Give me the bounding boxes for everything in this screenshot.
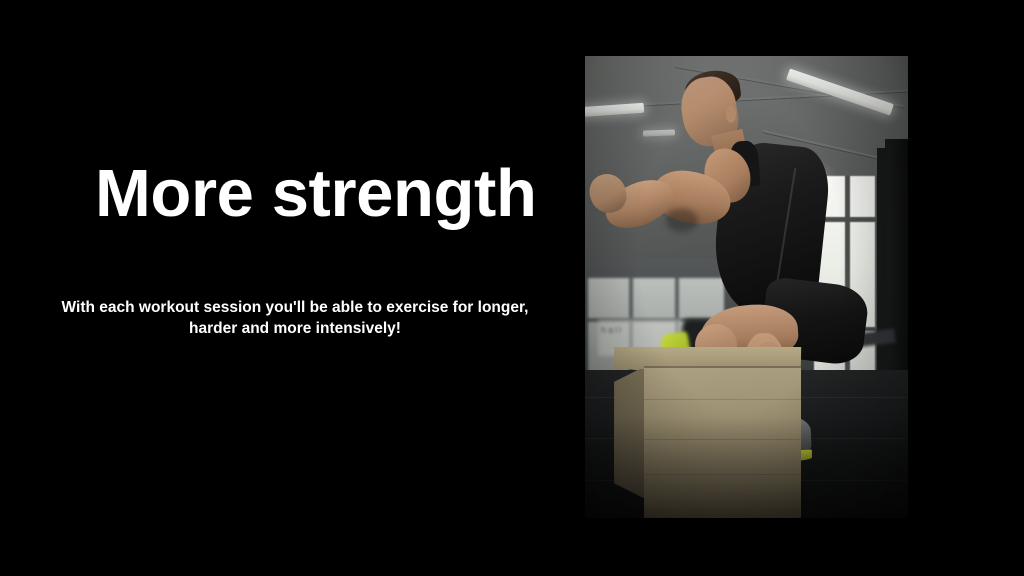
plyometric-box xyxy=(614,347,801,518)
wood-grain xyxy=(644,474,801,475)
presentation-slide: More strength With each workout session … xyxy=(0,0,1024,576)
photo-canvas: hall xyxy=(585,56,908,518)
box-side-face xyxy=(614,366,646,499)
page-title: More strength xyxy=(95,158,525,230)
athlete-elbow-shadow xyxy=(666,208,698,231)
text-column: More strength With each workout session … xyxy=(0,0,572,576)
box-edge xyxy=(644,366,801,368)
gym-photo: hall xyxy=(585,56,908,518)
wood-grain xyxy=(644,439,801,440)
wood-grain xyxy=(644,399,801,400)
box-front-face xyxy=(644,366,801,518)
slide-body-text: With each workout session you'll be able… xyxy=(60,297,530,339)
